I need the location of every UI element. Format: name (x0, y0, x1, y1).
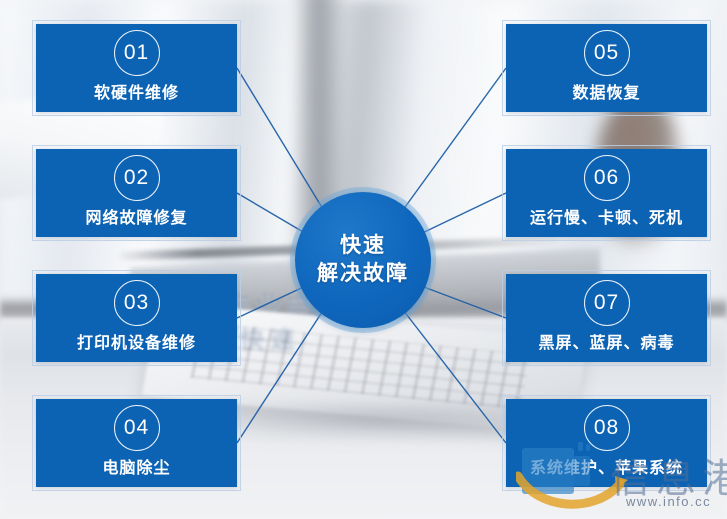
connector-line-08 (400, 306, 506, 443)
center-hub-line-2: 解决故障 (317, 260, 409, 288)
connector-line-05 (400, 68, 506, 214)
connector-line-07 (416, 284, 506, 318)
service-label-03: 打印机设备维修 (77, 329, 196, 353)
service-box-08[interactable]: 08 系统维护、苹果系统 (506, 399, 707, 487)
service-box-02[interactable]: 02 网络故障修复 (36, 149, 237, 237)
connector-line-03 (237, 284, 310, 318)
service-label-07: 黑屏、蓝屏、病毒 (538, 329, 674, 353)
service-number-01: 01 (114, 30, 160, 76)
service-label-06: 运行慢、卡顿、死机 (530, 204, 683, 228)
service-box-05[interactable]: 05 数据恢复 (506, 24, 707, 112)
service-box-03[interactable]: 03 打印机设备维修 (36, 274, 237, 362)
service-label-02: 网络故障修复 (85, 204, 187, 228)
infographic-canvas: 专业电脑维修 快速 快速 解决故障 01 软硬件维修 02 网络故障修复 03 … (0, 0, 727, 519)
service-box-01[interactable]: 01 软硬件维修 (36, 24, 237, 112)
service-number-04: 04 (114, 405, 160, 451)
service-box-04[interactable]: 04 电脑除尘 (36, 399, 237, 487)
service-number-03: 03 (114, 280, 160, 326)
service-label-01: 软硬件维修 (94, 79, 179, 103)
connector-line-01 (237, 68, 326, 214)
service-label-08: 系统维护、苹果系统 (530, 454, 683, 478)
connector-line-02 (237, 193, 310, 236)
service-number-08: 08 (584, 405, 630, 451)
service-label-04: 电脑除尘 (102, 454, 170, 478)
connector-line-06 (416, 193, 506, 236)
connector-line-04 (237, 306, 326, 443)
service-box-06[interactable]: 06 运行慢、卡顿、死机 (506, 149, 707, 237)
service-number-07: 07 (584, 280, 630, 326)
center-hub: 快速 解决故障 (295, 192, 431, 328)
service-number-06: 06 (584, 155, 630, 201)
center-hub-line-1: 快速 (340, 232, 386, 260)
service-number-05: 05 (584, 30, 630, 76)
service-label-05: 数据恢复 (572, 79, 640, 103)
service-box-07[interactable]: 07 黑屏、蓝屏、病毒 (506, 274, 707, 362)
service-number-02: 02 (114, 155, 160, 201)
